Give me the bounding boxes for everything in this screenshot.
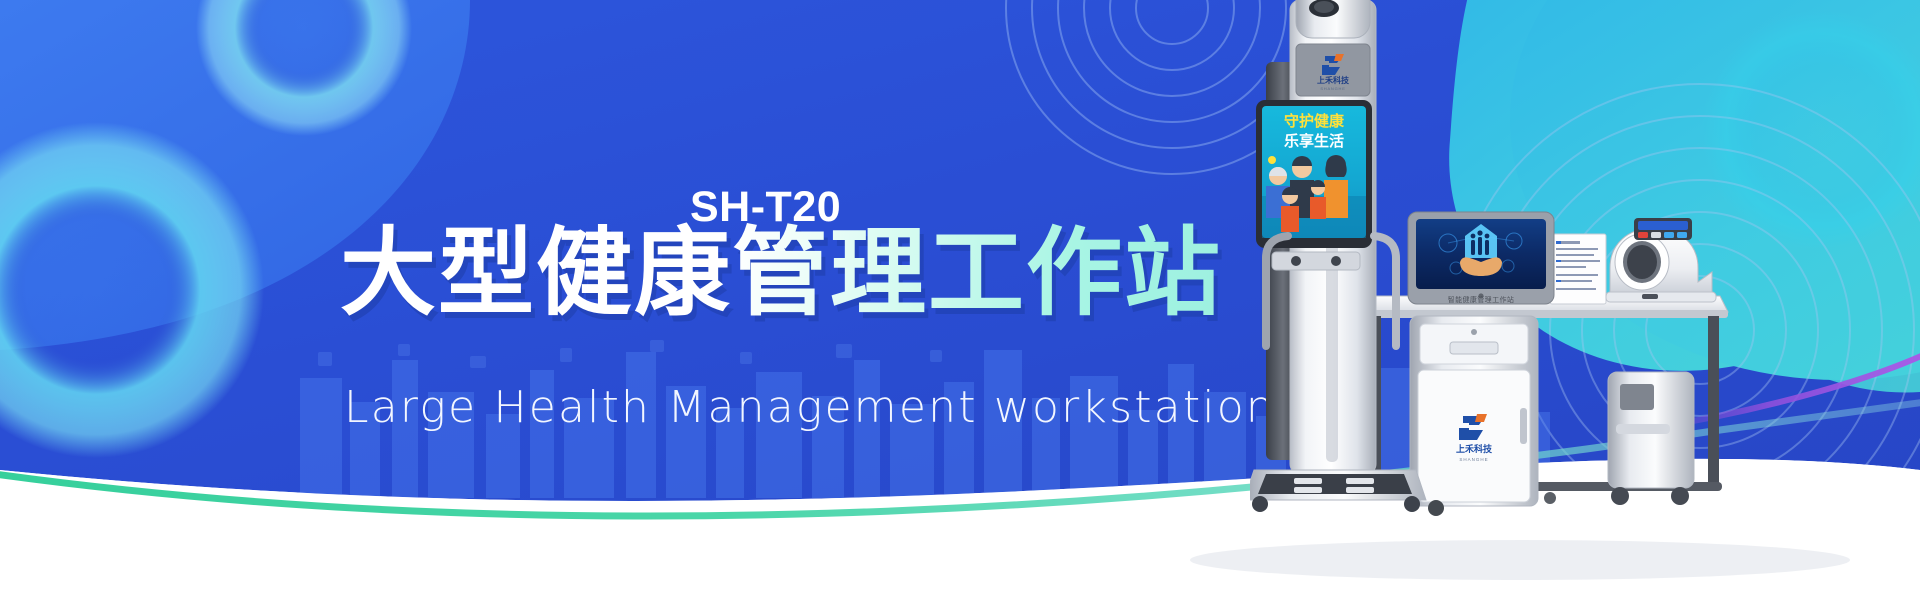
- headline-block: SH-T20 大型健康管理工作站 Large Health Management…: [0, 0, 1240, 600]
- cabinet-brand-en: SHANGHE: [1459, 457, 1488, 462]
- kiosk-touchscreen[interactable]: 守护健康 乐享生活: [1256, 100, 1372, 248]
- cabinet-brand-cn: 上禾科技: [1456, 443, 1493, 455]
- kiosk-brand-en: SHANGHE: [1320, 86, 1345, 91]
- kiosk-brand-cn: 上禾科技: [1317, 75, 1350, 85]
- product-image-group: 上禾科技 SHANGHE: [1250, 0, 1920, 600]
- right-module: [1608, 372, 1694, 505]
- document-stack: [1550, 234, 1606, 304]
- kiosk-screen-line1: 守护健康: [1284, 112, 1345, 130]
- page-title: 大型健康管理工作站: [340, 222, 1222, 326]
- desk-monitor: 智能健康管理工作站: [1408, 212, 1554, 304]
- monitor-caption: 智能健康管理工作站: [1448, 295, 1515, 304]
- kiosk-logo-plate: 上禾科技 SHANGHE: [1296, 44, 1370, 96]
- blood-pressure-monitor: [1606, 218, 1716, 302]
- health-kiosk: 上禾科技 SHANGHE 守护健康 乐享生活: [1250, 0, 1426, 512]
- kiosk-head-unit: [1296, 0, 1370, 38]
- bp-keypad[interactable]: [1634, 218, 1692, 240]
- kiosk-screen-line2: 乐享生活: [1284, 132, 1344, 150]
- weight-scale-platform: [1250, 470, 1426, 512]
- product-banner: SH-T20 大型健康管理工作站 Large Health Management…: [0, 0, 1920, 600]
- subtitle-en: Large Health Management workstation: [344, 382, 1276, 433]
- cabinet: 上禾科技 SHANGHE: [1410, 316, 1538, 506]
- kiosk-sensor-strip: [1272, 252, 1360, 270]
